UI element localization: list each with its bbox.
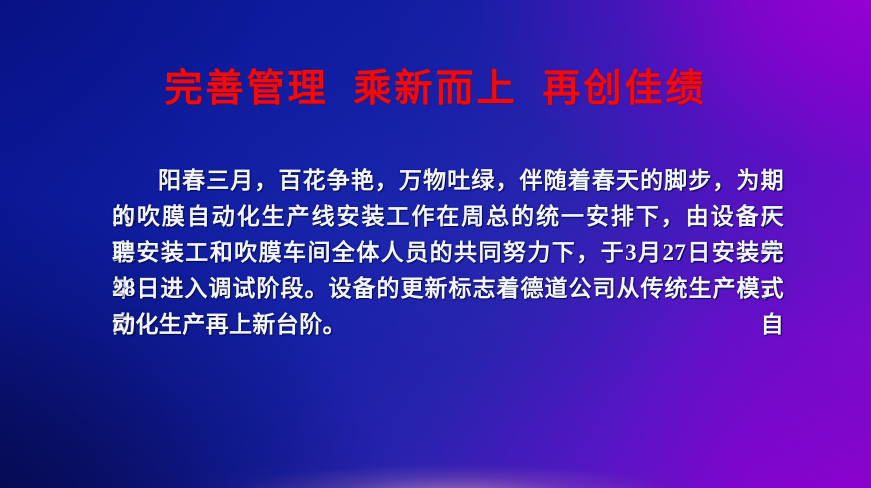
body-line-4: 28日进入调试阶段。设备的更新标志着德道公司从传统生产模式向自 — [112, 271, 784, 307]
body-line-3: 聘安装工和吹膜车间全体人员的共同努力下，于3月27日安装完毕， — [112, 235, 784, 271]
presentation-slide: 完善管理 乘新而上 再创佳绩 阳春三月，百花争艳，万物吐绿，伴随着春天的脚步，为… — [0, 0, 871, 488]
body-line-1: 阳春三月，百花争艳，万物吐绿，伴随着春天的脚步，为期20天 — [112, 163, 784, 199]
slide-body-paragraph: 阳春三月，百花争艳，万物吐绿，伴随着春天的脚步，为期20天 的吹膜自动化生产线安… — [112, 163, 784, 343]
slide-title: 完善管理 乘新而上 再创佳绩 — [0, 66, 871, 114]
slide-content: 完善管理 乘新而上 再创佳绩 阳春三月，百花争艳，万物吐绿，伴随着春天的脚步，为… — [0, 0, 871, 488]
body-line-2: 的吹膜自动化生产线安装工作在周总的统一安排下，由设备厂家、外 — [112, 199, 784, 235]
